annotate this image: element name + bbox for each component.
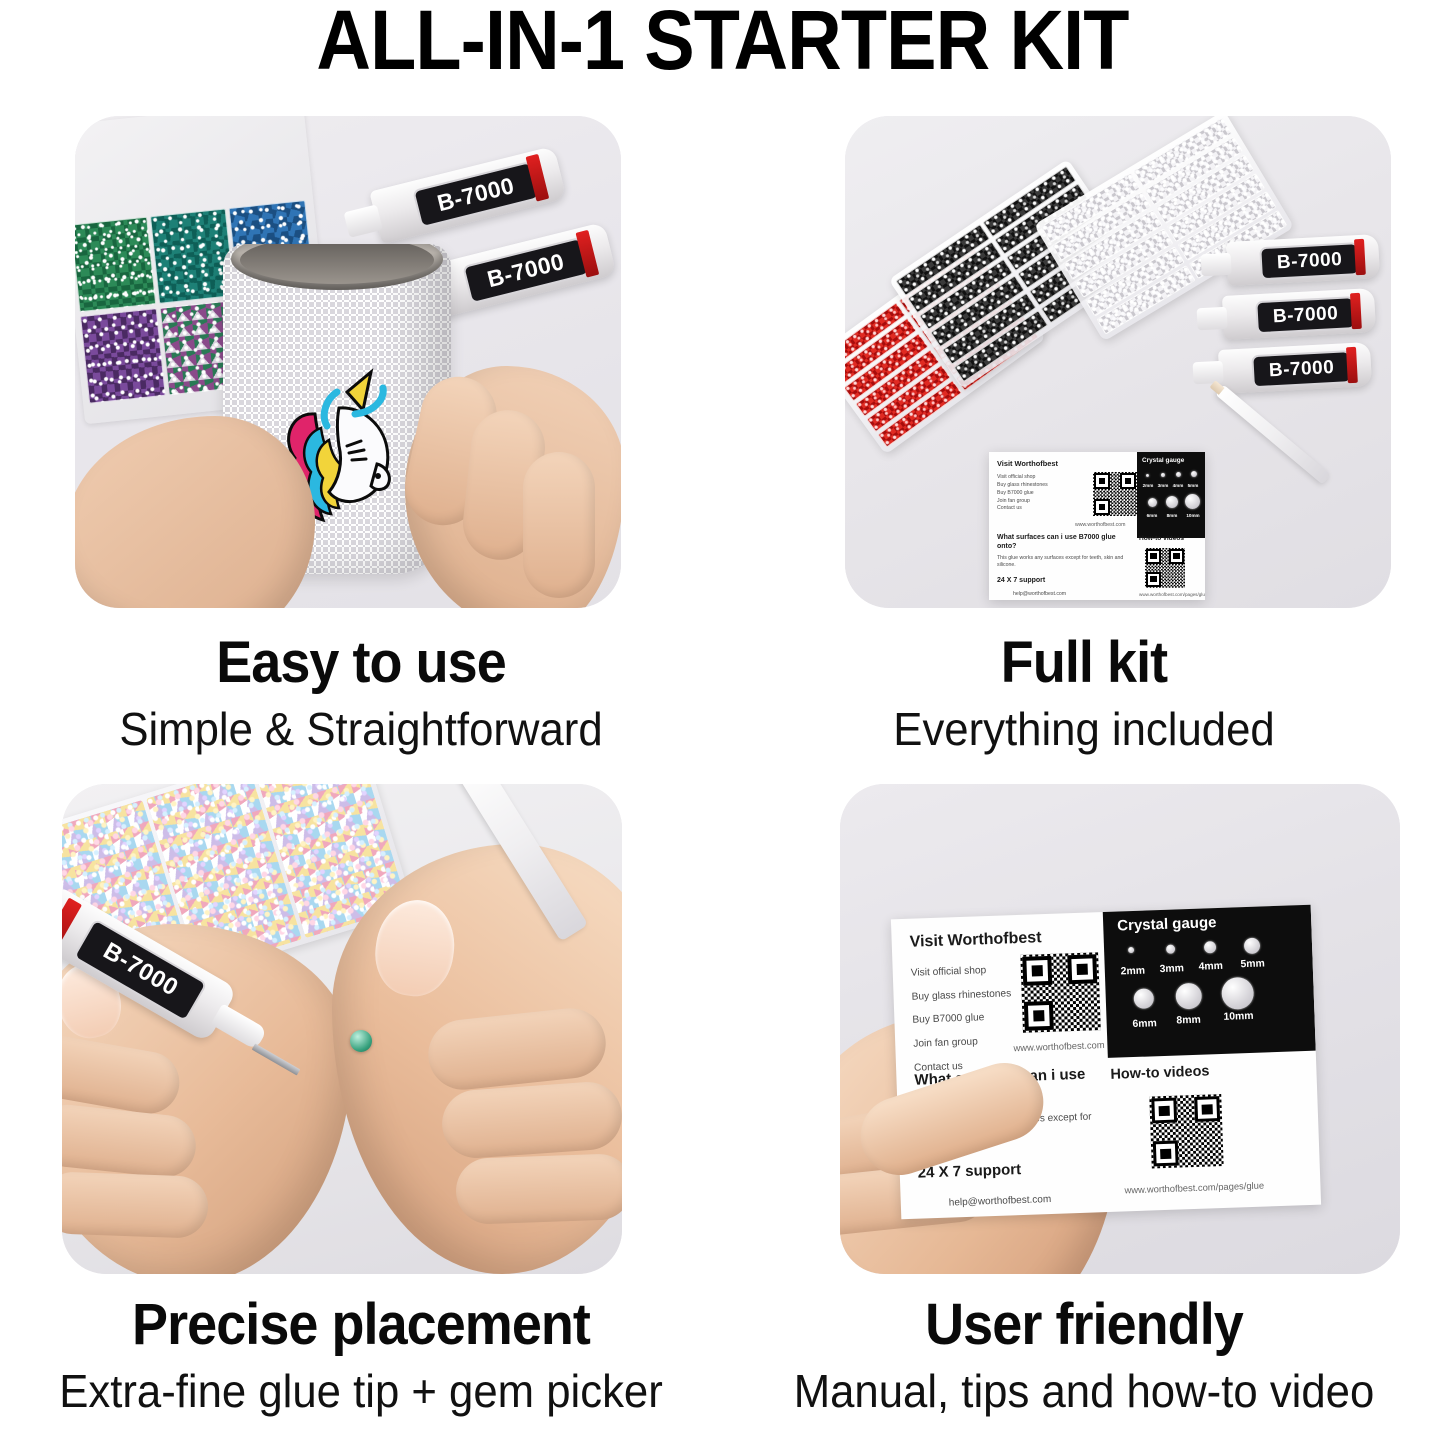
feature-heading: Full kit	[748, 634, 1419, 692]
gem-picker-pencil	[1215, 385, 1331, 485]
glue-tube: B-7000	[1226, 234, 1380, 286]
card-videos-heading: How-to videos	[1139, 534, 1205, 544]
card-support-email: help@worthofbest.com	[1013, 591, 1135, 599]
glue-tube: B-7000	[369, 146, 566, 244]
card-videos-heading: How-to videos	[1110, 1057, 1311, 1086]
card-visit-item: Buy B7000 glue	[997, 490, 1089, 498]
feature-cell-full-kit: B-7000 B-7000 B-7000	[723, 112, 1445, 772]
feature-cell-user-friendly: Visit Worthofbest Visit official shop Bu…	[723, 778, 1445, 1438]
gauge-label: 3mm	[1152, 961, 1193, 979]
feature-caption-user-friendly: User friendly Manual, tips and how-to vi…	[723, 1296, 1445, 1414]
feature-caption-precise-placement: Precise placement Extra-fine glue tip + …	[0, 1296, 722, 1414]
feature-heading: User friendly	[748, 1296, 1419, 1354]
feature-heading: Easy to use	[25, 634, 696, 692]
glue-tube: B-7000	[1222, 288, 1376, 340]
hand-left	[75, 416, 315, 608]
crystal-gauge-heading: Crystal gauge	[1142, 456, 1184, 466]
glue-brand-label: B-7000	[1272, 303, 1338, 328]
feature-caption-easy-to-use: Easy to use Simple & Straightforward	[0, 634, 722, 752]
gauge-label: 6mm	[1124, 1016, 1165, 1034]
qr-code-shop	[1020, 952, 1101, 1033]
card-support-email: help@worthofbest.com	[949, 1190, 1111, 1211]
gauge-label: 8mm	[1168, 1012, 1209, 1030]
card-visit-heading: Visit Worthofbest	[909, 924, 1102, 955]
tumbler-rim-icon	[231, 244, 443, 290]
gauge-label: 4mm	[1190, 959, 1231, 977]
feature-cell-easy-to-use: B-7000 B-7000	[0, 112, 722, 772]
infographic-page: ALL-IN-1 STARTER KIT B-7000	[0, 0, 1445, 1438]
gauge-label: 6mm	[1143, 513, 1161, 520]
feature-subheading: Extra-fine glue tip + gem picker	[18, 1368, 704, 1414]
card-visit-item: Contact us	[997, 505, 1089, 513]
glue-brand-label: B-7000	[1268, 357, 1334, 382]
feature-caption-full-kit: Full kit Everything included	[723, 634, 1445, 752]
instruction-card: Visit Worthofbest Visit official shop Bu…	[891, 905, 1321, 1219]
gauge-label: 5mm	[1230, 956, 1275, 974]
card-visit-item: Visit official shop	[997, 474, 1089, 482]
feature-photo-full-kit: B-7000 B-7000 B-7000	[845, 116, 1391, 608]
crystal-gauge: Crystal gauge 2mm 3mm 4mm 5mm 6mm 8mm	[1103, 905, 1316, 1058]
page-title: ALL-IN-1 STARTER KIT	[72, 0, 1373, 84]
glue-tube: B-7000	[1218, 342, 1372, 394]
card-visit-heading: Visit Worthofbest	[997, 458, 1089, 469]
qr-code-videos	[1149, 1094, 1223, 1168]
feature-photo-precise-placement: B-7000	[62, 784, 622, 1274]
gauge-label: 5mm	[1184, 483, 1202, 490]
card-visit-item: Join fan group	[997, 498, 1089, 506]
feature-subheading: Simple & Straightforward	[18, 706, 704, 752]
rhinestone-on-picker	[350, 1030, 372, 1052]
gauge-label: 10mm	[1183, 513, 1203, 520]
card-surfaces-heading: What surfaces can i use B7000 glue onto?	[997, 534, 1135, 552]
crystal-gauge-heading: Crystal gauge	[1117, 911, 1217, 938]
card-surfaces-body: This glue works any surfaces except for …	[997, 555, 1135, 569]
feature-photo-easy-to-use: B-7000 B-7000	[75, 116, 621, 608]
card-support-heading: 24 X 7 support	[997, 576, 1135, 587]
card-videos-url: www.worthofbest.com/pages/glue	[1139, 592, 1205, 599]
glue-brand-label: B-7000	[484, 248, 567, 293]
glue-brand-label: B-7000	[434, 172, 517, 217]
gauge-label: 10mm	[1214, 1009, 1263, 1027]
feature-photo-user-friendly: Visit Worthofbest Visit official shop Bu…	[840, 784, 1400, 1274]
feature-cell-precise-placement: B-7000 Precise placement	[0, 778, 722, 1438]
card-videos-url: www.worthofbest.com/pages/glue	[1124, 1177, 1314, 1198]
card-visit-url: www.worthofbest.com	[1075, 522, 1125, 530]
qr-code-videos	[1145, 548, 1185, 588]
instruction-card: Visit Worthofbest Visit official shop Bu…	[989, 452, 1205, 600]
qr-code-shop	[1093, 472, 1137, 516]
feature-subheading: Manual, tips and how-to video	[741, 1368, 1427, 1414]
gauge-label: 2mm	[1113, 963, 1154, 981]
glue-brand-label: B-7000	[1276, 249, 1342, 274]
card-visit-item: Buy glass rhinestones	[997, 482, 1089, 490]
feature-heading: Precise placement	[25, 1296, 696, 1354]
hand-right	[405, 366, 621, 608]
feature-subheading: Everything included	[741, 706, 1427, 752]
crystal-gauge: Crystal gauge 2mm 3mm 4mm 5mm 6mm 8mm	[1137, 452, 1205, 538]
gauge-label: 8mm	[1163, 513, 1181, 520]
